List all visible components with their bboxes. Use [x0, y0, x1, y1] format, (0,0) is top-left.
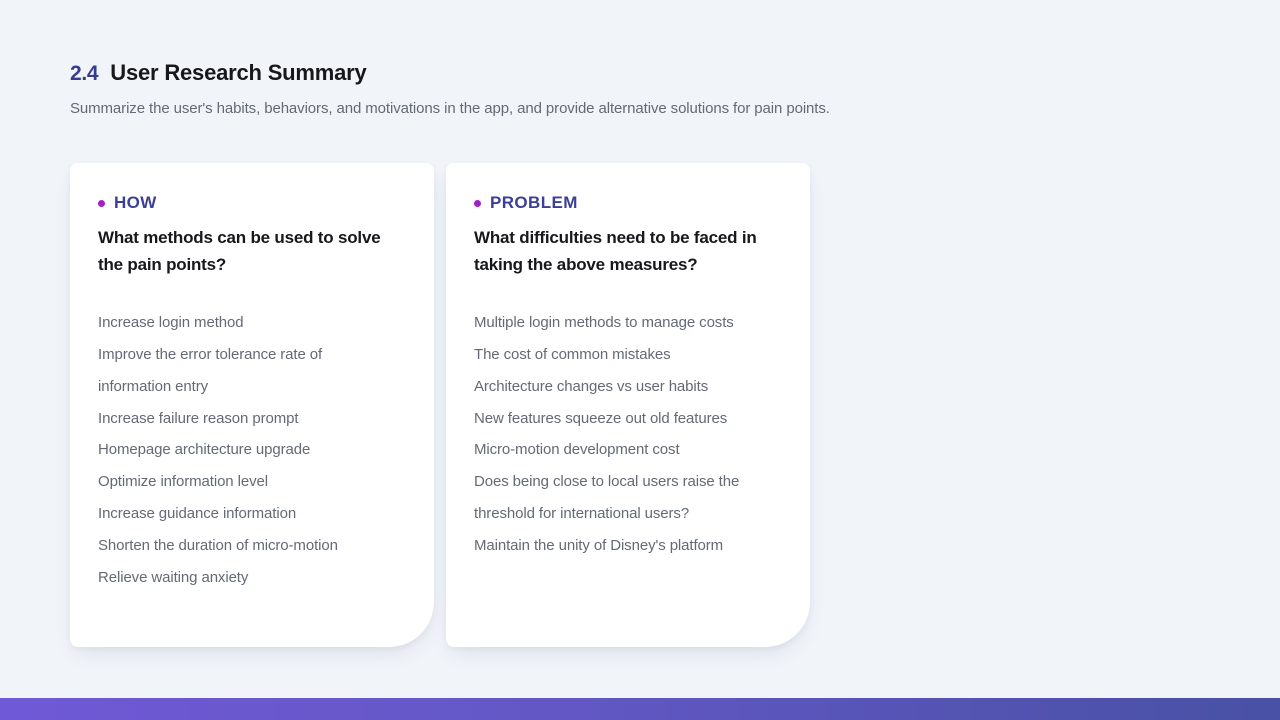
- list-item: Relieve waiting anxiety: [98, 562, 398, 594]
- card-question: What difficulties need to be faced in ta…: [474, 225, 764, 279]
- list-item: The cost of common mistakes: [474, 339, 774, 371]
- list-item: Optimize information level: [98, 466, 398, 498]
- card-question: What methods can be used to solve the pa…: [98, 225, 388, 279]
- bullet-dot-icon: [98, 200, 105, 207]
- list-item: Maintain the unity of Disney's platform: [474, 530, 774, 562]
- list-item: Shorten the duration of micro-motion: [98, 530, 398, 562]
- list-item: Micro-motion development cost: [474, 434, 774, 466]
- section-number: 2.4: [70, 62, 98, 86]
- list-item: Increase guidance information: [98, 498, 398, 530]
- card-kicker-label: PROBLEM: [490, 193, 578, 213]
- card-kicker-problem: PROBLEM: [474, 193, 782, 213]
- list-item: Increase failure reason prompt: [98, 403, 398, 435]
- page-header: 2.4 User Research Summary Summarize the …: [70, 60, 1070, 117]
- list-item: Homepage architecture upgrade: [98, 434, 398, 466]
- list-item: Multiple login methods to manage costs: [474, 307, 774, 339]
- card-how: HOW What methods can be used to solve th…: [70, 163, 434, 647]
- card-list-problem: Multiple login methods to manage costs T…: [474, 307, 782, 563]
- card-problem: PROBLEM What difficulties need to be fac…: [446, 163, 810, 647]
- list-item: Architecture changes vs user habits: [474, 371, 774, 403]
- list-item: Does being close to local users raise th…: [474, 466, 774, 530]
- bottom-accent-bar: [0, 698, 1280, 720]
- list-item: New features squeeze out old features: [474, 403, 774, 435]
- title-row: 2.4 User Research Summary: [70, 60, 1070, 86]
- card-list-how: Increase login method Improve the error …: [98, 307, 406, 594]
- bullet-dot-icon: [474, 200, 481, 207]
- cards-container: HOW What methods can be used to solve th…: [70, 163, 810, 647]
- card-kicker-how: HOW: [98, 193, 406, 213]
- page-subtitle: Summarize the user's habits, behaviors, …: [70, 100, 1070, 117]
- card-kicker-label: HOW: [114, 193, 157, 213]
- list-item: Improve the error tolerance rate of info…: [98, 339, 398, 403]
- page-title: User Research Summary: [110, 60, 366, 86]
- list-item: Increase login method: [98, 307, 398, 339]
